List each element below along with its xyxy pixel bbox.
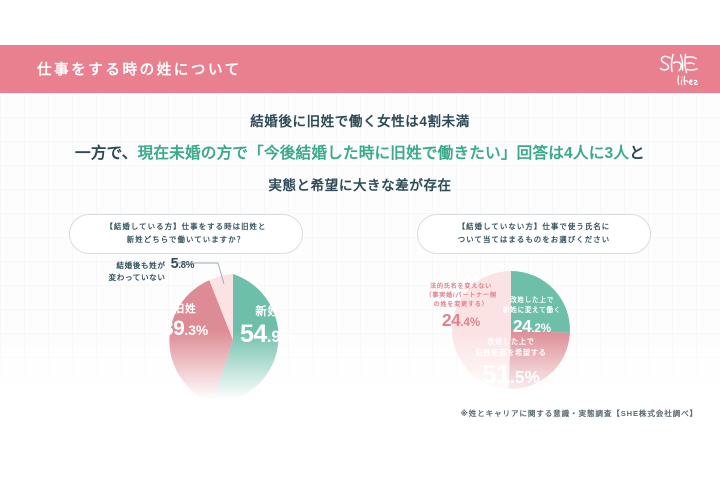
header-bar: 仕事をする時の姓について xyxy=(0,45,720,93)
headline-line-2: 一方で、現在未婚の方で「今後結婚した時に旧姓で働きたい」回答は4人に3人と xyxy=(0,141,720,163)
she-likes-logo xyxy=(656,50,702,88)
headline-line-2-prefix: 一方で、 xyxy=(75,145,138,162)
headline-block: 結婚後に旧姓で働く女性は4割未満 一方で、現在未婚の方で「今後結婚した時に旧姓で… xyxy=(0,110,720,194)
chart-panel-unmarried: 【結婚していない方】仕事で使う氏名に ついて当てはまるものをお選びください xyxy=(366,214,702,254)
slide-canvas: 仕事をする時の姓について xyxy=(0,0,720,480)
chart-question-unmarried: 【結婚していない方】仕事で使う氏名に ついて当てはまるものをお選びください xyxy=(417,214,651,254)
pie-callout-unchanged: 結婚後も姓が 変わっていない 5.8% xyxy=(66,256,194,284)
headline-line-2-accent: 現在未婚の方で「今後結婚した時に旧姓で働きたい」回答は4人に3人 xyxy=(138,145,630,162)
headline-line-1: 結婚後に旧姓で働く女性は4割未満 xyxy=(0,110,720,130)
headline-line-2-suffix: と xyxy=(629,145,645,162)
page-title: 仕事をする時の姓について xyxy=(37,59,242,80)
pie-callout-unchanged-name: 結婚後も姓が 変わっていない xyxy=(109,256,166,284)
pie-slice-change-to-new xyxy=(511,271,570,333)
question-line-1: 【結婚している方】仕事をする時は旧姓と xyxy=(105,222,266,231)
headline-line-3: 実態と希望に大きな差が存在 xyxy=(0,174,720,194)
question-line-1: 【結婚していない方】仕事で使う氏名に xyxy=(458,222,611,231)
source-footnote: ※姓とキャリアに関する意識・実態調査【SHE株式会社調べ】 xyxy=(461,408,699,419)
chart-question-married: 【結婚している方】仕事をする時は旧姓と 新姓どちらで働いていますか？ xyxy=(69,214,303,254)
question-line-2: ついて当てはまるものをお選びください xyxy=(458,235,610,244)
question-line-2: 新姓どちらで働いていますか？ xyxy=(127,235,245,244)
pie-callout-leader-line xyxy=(176,262,226,291)
chart-panel-married: 【結婚している方】仕事をする時は旧姓と 新姓どちらで働いていますか？ xyxy=(18,214,354,254)
